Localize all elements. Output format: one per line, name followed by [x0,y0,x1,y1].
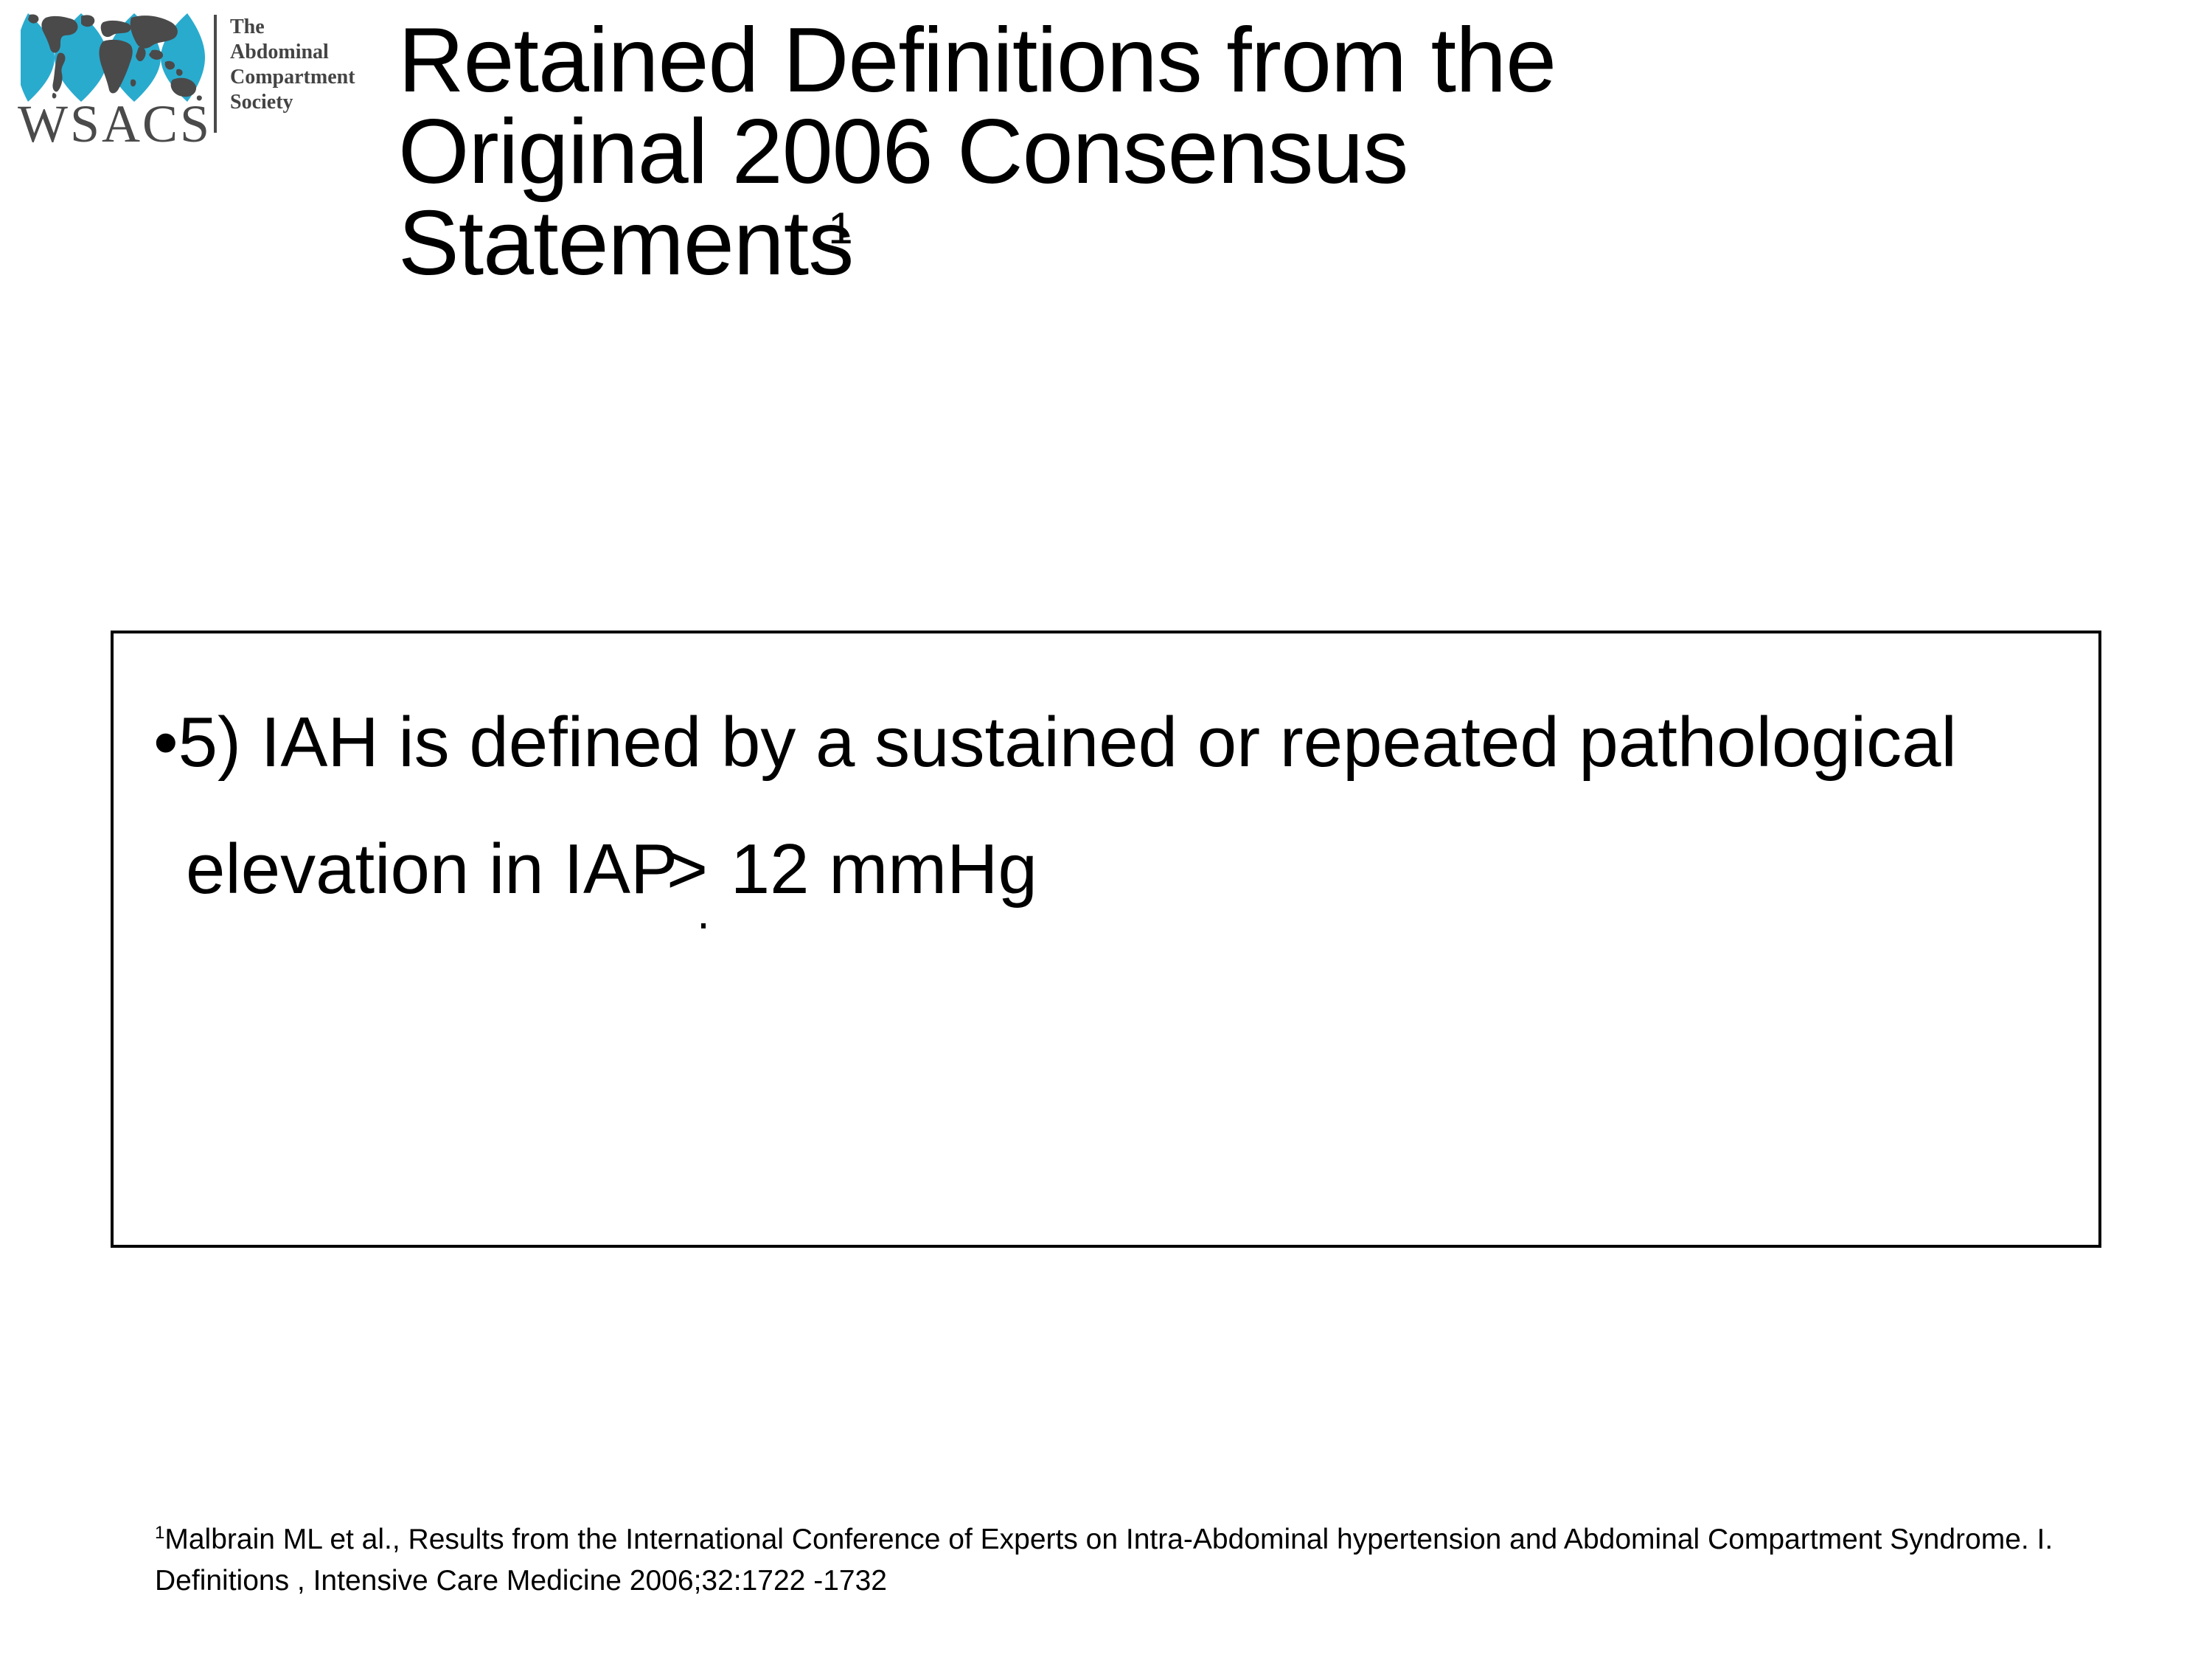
definition-text-prefix: 5) IAH is defined by a sustained or repe… [178,703,1957,909]
title-line-3: Statements [398,192,853,294]
slide-title: Retained Definitions from the Original 2… [398,15,2109,289]
definition-list: •5) IAH is defined by a sustained or rep… [114,633,2098,933]
footnote-text: Malbrain ML et al., Results from the Int… [155,1524,2053,1597]
bullet-glyph: • [153,703,178,782]
footnote-marker: 1 [155,1523,164,1543]
greater-or-equal-symbol: > [696,806,711,933]
org-name-line-4: Society [230,90,355,115]
org-name-line-2: Abdominal [230,40,355,65]
slide-canvas: WSACS The Abdominal Compartment Society … [0,0,2212,1660]
footnote: 1Malbrain ML et al., Results from the In… [155,1519,2109,1602]
title-line-2: Original 2006 Consensus [398,106,2109,198]
definition-text-suffix: 12 mmHg [711,830,1037,909]
org-name-line-3: Compartment [230,65,355,90]
definition-box: •5) IAH is defined by a sustained or rep… [111,631,2101,1248]
list-item: •5) IAH is defined by a sustained or rep… [150,679,2062,933]
logo-mark: WSACS [13,10,212,147]
org-name-line-1: The [230,15,355,40]
title-line-1: Retained Definitions from the [398,15,2109,106]
title-footnote-marker: 1 [828,204,852,253]
wsacs-wordmark: WSACS [18,97,211,150]
logo-divider [214,15,217,133]
wsacs-logo: WSACS The Abdominal Compartment Society [13,10,360,150]
globe-icon [21,12,209,103]
org-name: The Abdominal Compartment Society [230,10,355,115]
title-line-3-wrapper: Statements1 [398,198,2109,289]
